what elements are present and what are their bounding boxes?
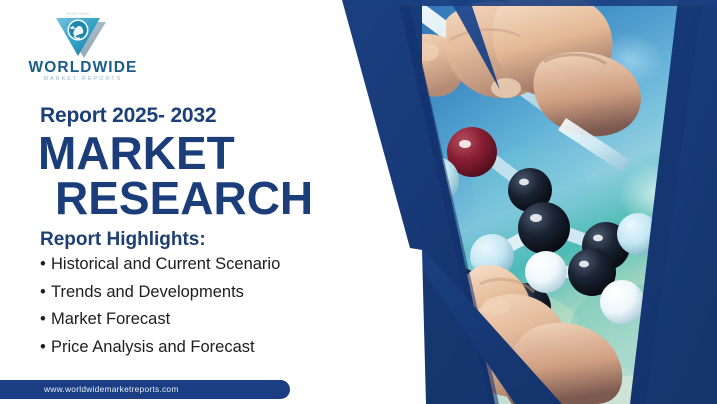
brand-name: WORLDWIDE <box>22 60 144 76</box>
list-item-label: Market Forecast <box>51 310 170 328</box>
title-line-2: RESEARCH <box>55 175 313 221</box>
list-item: •Historical and Current Scenario <box>40 256 280 273</box>
list-item-label: Trends and Developments <box>51 283 244 301</box>
market-research-report-banner: WORLDWIDE WORLDWIDE MARKET REPORTS Repor… <box>0 0 717 404</box>
website-url-text: www.worldwidemarketreports.com <box>44 384 179 394</box>
title-line-1: MARKET <box>38 130 235 176</box>
svg-text:WORLDWIDE: WORLDWIDE <box>67 12 90 16</box>
list-item: •Trends and Developments <box>40 284 280 301</box>
artwork-panel <box>330 0 717 404</box>
highlights-list: •Historical and Current Scenario •Trends… <box>40 256 280 366</box>
brand-tagline: MARKET REPORTS <box>22 76 144 82</box>
list-item: •Market Forecast <box>40 311 280 328</box>
report-period: Report 2025- 2032 <box>40 104 216 128</box>
bullet-glyph: • <box>40 284 51 301</box>
worldwide-triangle-globe-logo-icon: WORLDWIDE <box>50 6 112 62</box>
bullet-glyph: • <box>40 311 51 328</box>
website-url-bar[interactable]: www.worldwidemarketreports.com <box>0 380 290 399</box>
brand-logo[interactable]: WORLDWIDE WORLDWIDE MARKET REPORTS <box>22 6 142 84</box>
bullet-glyph: • <box>40 256 51 273</box>
highlights-title: Report Highlights: <box>40 229 206 251</box>
list-item-label: Historical and Current Scenario <box>51 255 280 273</box>
list-item-label: Price Analysis and Forecast <box>51 338 255 356</box>
artwork-svg <box>330 0 717 404</box>
content-pane: WORLDWIDE WORLDWIDE MARKET REPORTS Repor… <box>0 0 360 404</box>
list-item: •Price Analysis and Forecast <box>40 339 280 356</box>
bullet-glyph: • <box>40 339 51 356</box>
